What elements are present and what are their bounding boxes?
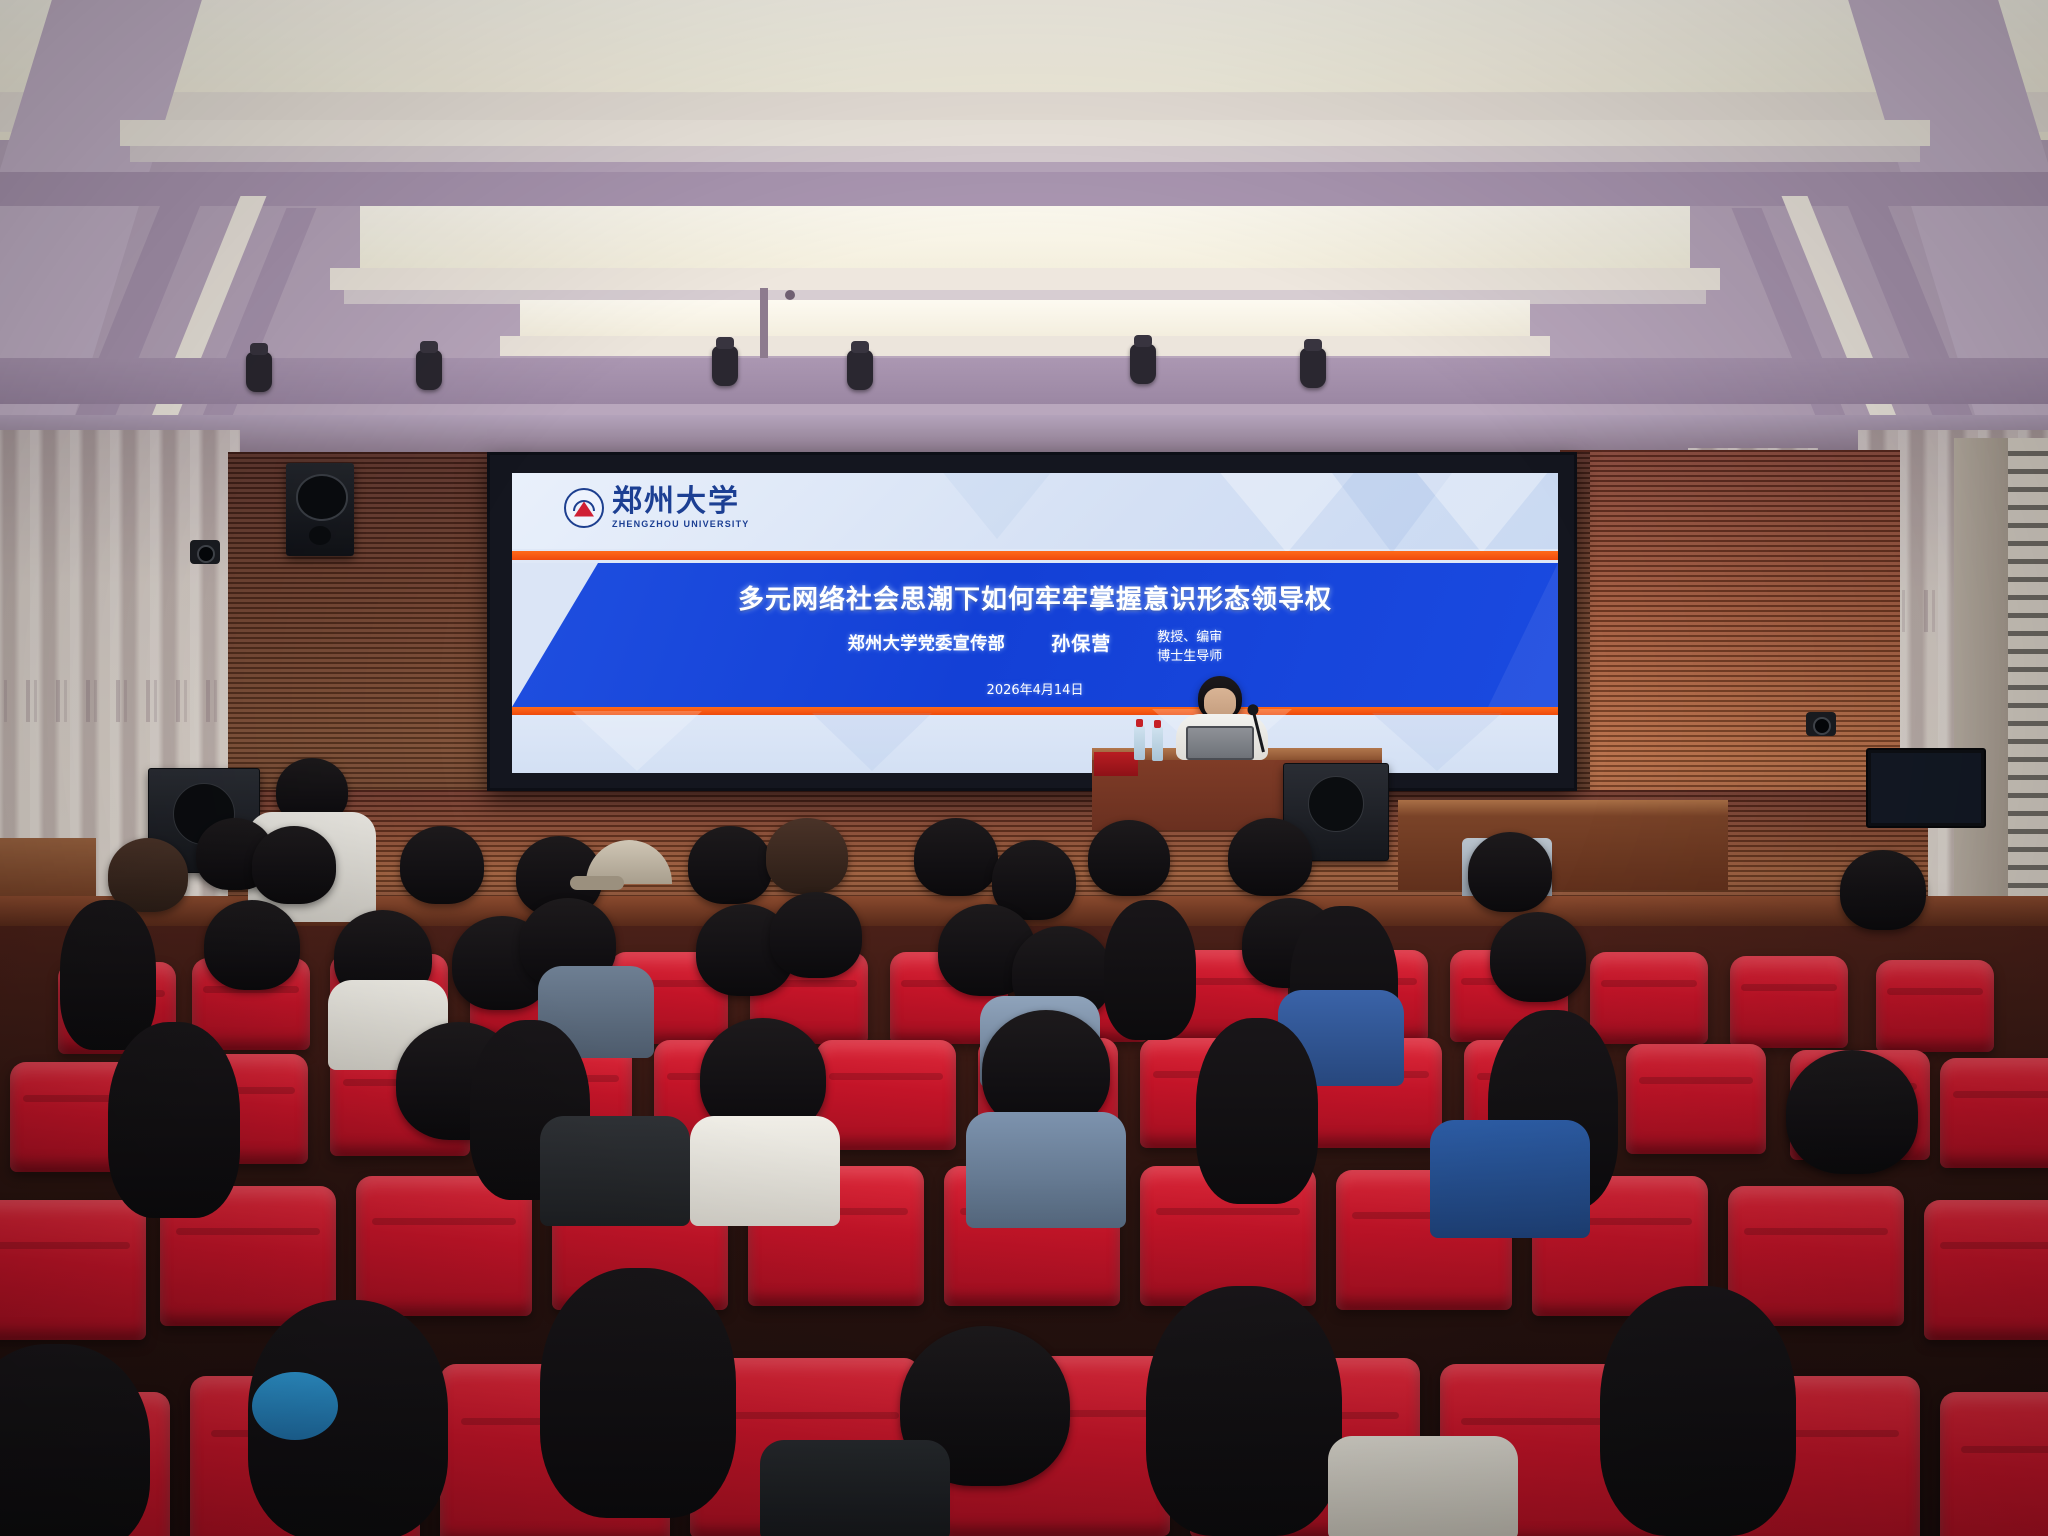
- logo-chinese-name: 郑州大学: [612, 487, 750, 517]
- spotlight-icon: [246, 352, 272, 392]
- sprinkler-head-icon: [785, 290, 795, 300]
- seat: [1626, 1044, 1766, 1154]
- ceiling-frame-ring3: [330, 268, 1720, 290]
- spotlight-icon: [847, 350, 873, 390]
- logo-english-name: ZHENGZHOU UNIVERSITY: [612, 519, 750, 529]
- audience-head: [1228, 818, 1312, 896]
- slide-header: 郑州大学 ZHENGZHOU UNIVERSITY: [512, 473, 1558, 549]
- audience-head: [1468, 832, 1552, 912]
- desk-red-skirt: [1094, 752, 1138, 776]
- seat: [1924, 1200, 2048, 1340]
- ptz-camera-icon: [190, 540, 220, 564]
- slide-title: 多元网络社会思潮下如何牢牢掌握意识形态领导权: [512, 579, 1558, 616]
- audience-head: [1146, 1286, 1342, 1536]
- audience-head: [400, 826, 484, 904]
- audience-head: [688, 826, 772, 904]
- ceiling-frame-center: [500, 336, 1550, 356]
- seat: [1730, 956, 1848, 1048]
- slide-organization: 郑州大学党委宣传部: [848, 629, 1006, 654]
- audience-head: [1840, 850, 1926, 930]
- seat: [1876, 960, 1994, 1052]
- audience-head: [108, 1022, 240, 1218]
- spotlight-icon: [1300, 348, 1326, 388]
- side-console-desk: [1398, 800, 1728, 890]
- audience-head: [914, 818, 998, 896]
- seat: [1940, 1392, 2048, 1536]
- water-bottle-icon: [1152, 727, 1163, 761]
- slide-speaker-name: 孙保营: [1051, 629, 1111, 656]
- slide-date: 2026年4月14日: [512, 679, 1558, 698]
- audience-head: [1490, 912, 1586, 1002]
- audience-head: [770, 892, 862, 978]
- coffered-ceiling: [0, 0, 2048, 432]
- loudspeaker-icon: [286, 463, 354, 556]
- spotlight-icon: [1130, 344, 1156, 384]
- lecture-hall-photo: 郑州大学 ZHENGZHOU UNIVERSITY 多元网络社会思潮下如何牢牢掌…: [0, 0, 2048, 1536]
- zzu-seal-icon: [564, 488, 604, 528]
- projection-screen: 郑州大学 ZHENGZHOU UNIVERSITY 多元网络社会思潮下如何牢牢掌…: [487, 452, 1577, 791]
- ceiling-frame-ring2-shadow: [130, 146, 1920, 162]
- university-logo: 郑州大学 ZHENGZHOU UNIVERSITY: [564, 487, 750, 529]
- seat: [1590, 952, 1708, 1044]
- speaker-role-primary: 教授、编审: [1157, 629, 1222, 648]
- ceiling-beam-band-upper: [0, 172, 2048, 206]
- audience-head: [1104, 900, 1196, 1040]
- audience-head: [204, 900, 300, 990]
- audience-body: [760, 1440, 950, 1536]
- slide-footer: [512, 717, 1558, 773]
- audience-body: [966, 1112, 1126, 1228]
- slide-speaker-roles: 教授、编审 博士生导师: [1157, 629, 1222, 667]
- speaker-driver-icon: [1308, 776, 1364, 832]
- slide-accent-bar-top: [512, 551, 1558, 560]
- audience-head: [540, 1268, 736, 1518]
- ceiling-cove-light-inner: [360, 206, 1690, 276]
- ceiling-frame-ring2: [120, 120, 1930, 146]
- ceiling-conduit: [760, 288, 768, 358]
- ptz-camera-icon: [1806, 712, 1836, 736]
- laptop-icon: [1186, 726, 1254, 760]
- audience-head: [1196, 1018, 1318, 1204]
- audience-body: [690, 1116, 840, 1226]
- spotlight-icon: [416, 350, 442, 390]
- ceiling-beam-band-lower: [0, 358, 2048, 404]
- hair-scrunchie: [252, 1372, 338, 1440]
- audience-head: [252, 826, 336, 904]
- audience-body: [540, 1116, 690, 1226]
- speaker-role-secondary: 博士生导师: [1157, 648, 1222, 667]
- monitor-icon: [1866, 748, 1986, 828]
- presentation-slide: 郑州大学 ZHENGZHOU UNIVERSITY 多元网络社会思潮下如何牢牢掌…: [512, 473, 1558, 773]
- seat: [1940, 1058, 2048, 1168]
- water-bottle-icon: [1134, 726, 1145, 760]
- audience-head: [1088, 820, 1170, 896]
- audience-head: [1786, 1050, 1918, 1174]
- slide-credit-line: 郑州大学党委宣传部 孙保营 教授、编审 博士生导师: [512, 629, 1558, 667]
- audience-head: [1600, 1286, 1796, 1536]
- cap-brim: [570, 876, 624, 890]
- audience-head: [60, 900, 156, 1050]
- seat: [0, 1200, 146, 1340]
- audience-body: [1430, 1120, 1590, 1238]
- audience-head: [766, 818, 848, 894]
- audience-body: [1328, 1436, 1518, 1536]
- slide-title-panel: 多元网络社会思潮下如何牢牢掌握意识形态领导权 郑州大学党委宣传部 孙保营 教授、…: [512, 563, 1558, 707]
- spotlight-icon: [712, 346, 738, 386]
